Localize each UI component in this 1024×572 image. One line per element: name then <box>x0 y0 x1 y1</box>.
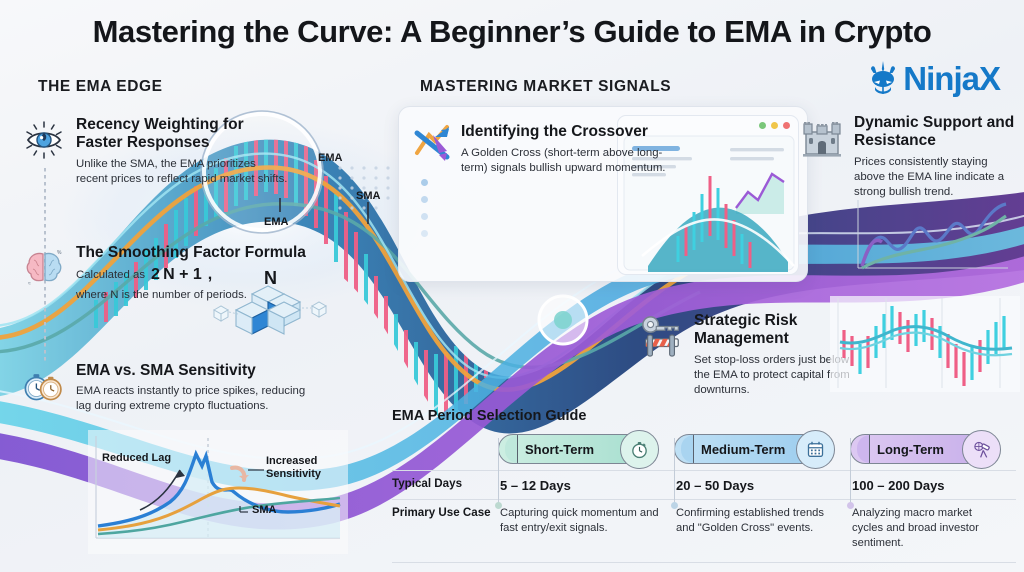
pill-cap <box>505 435 518 463</box>
traffic-light-red <box>783 122 790 129</box>
cell-days-long: 100 – 200 Days <box>850 471 1016 493</box>
section-kicker-middle: MASTERING MARKET SIGNALS <box>420 78 671 96</box>
step-dot <box>421 196 428 203</box>
page-title: Mastering the Curve: A Beginner’s Guide … <box>0 14 1024 50</box>
ema-period-selection-guide: EMA Period Selection Guide Short-Term <box>392 408 1016 566</box>
crossing-arrows-icon <box>413 123 455 165</box>
main-chart-ema-label: EMA <box>264 216 288 228</box>
cell-days-medium: 20 – 50 Days <box>674 471 850 493</box>
pill-label: Medium-Term <box>701 442 785 457</box>
barrier-icon <box>646 335 679 356</box>
cell-days-short: 5 – 12 Days <box>498 471 674 493</box>
eye-icon <box>22 118 66 162</box>
pill-long-term[interactable]: Long-Term <box>850 434 986 464</box>
step-dot <box>421 213 428 220</box>
pill-medium-term[interactable]: Medium-Term <box>674 434 820 464</box>
crossover-heading: Identifying the Crossover <box>461 123 671 141</box>
feature-support-heading: Dynamic Support and Resistance <box>854 114 1020 151</box>
vtick-dot <box>847 502 854 509</box>
guide-col-long[interactable]: Long-Term <box>850 434 1016 464</box>
feature-sensitivity-body: EMA reacts instantly to price spikes, re… <box>76 384 322 414</box>
label-reduced-lag: Reduced Lag <box>102 452 171 465</box>
n-cube-group: N <box>212 270 332 356</box>
panel-chart-ema-label: EMA <box>318 152 342 164</box>
main-chart-sma-label: SMA <box>356 190 380 202</box>
svg-text:%: % <box>57 250 62 256</box>
pill-label: Short-Term <box>525 442 594 457</box>
vtick-long <box>850 438 851 506</box>
lag-sensitivity-chart: Reduced Lag Increased Sensitivity SMA <box>88 430 348 554</box>
vtick-medium <box>674 438 675 506</box>
pill-short-term[interactable]: Short-Term <box>498 434 644 464</box>
stop-loss-chart <box>830 296 1020 392</box>
n-cube-label: N <box>264 268 277 289</box>
crossover-marker <box>539 296 587 344</box>
guide-col-short[interactable]: Short-Term <box>498 434 674 464</box>
section-kicker-left: THE EMA EDGE <box>38 78 163 96</box>
feature-support-body: Prices consistently staying above the EM… <box>854 155 1020 200</box>
step-dot <box>421 230 428 237</box>
cell-use-medium: Confirming established trends and "Golde… <box>674 500 850 550</box>
guide-header-row: Short-Term Medium-Term <box>392 434 1016 464</box>
cell-use-long: Analyzing macro market cycles and broad … <box>850 500 1016 550</box>
crossover-panel: Identifying the Crossover A Golden Cross… <box>398 106 808 282</box>
feature-recency-body: Unlike the SMA, the EMA prioritizes rece… <box>76 157 290 187</box>
crossover-body: A Golden Cross (short-term above long-te… <box>461 146 671 176</box>
traffic-light-yellow <box>771 122 778 129</box>
guide-col-medium[interactable]: Medium-Term <box>674 434 850 464</box>
row-label-primary-use-case: Primary Use Case <box>392 500 498 550</box>
brand-name: NinjaX <box>903 62 1000 95</box>
key-icon <box>640 314 684 358</box>
feature-risk-body: Set stop-loss orders just below the EMA … <box>694 353 850 398</box>
feature-recency-weighting: Recency Weighting for Faster Responses U… <box>22 116 290 187</box>
guide-title: EMA Period Selection Guide <box>392 408 1016 424</box>
crossover-text-block: Identifying the Crossover A Golden Cross… <box>461 123 671 177</box>
feature-strategic-risk-management: Strategic Risk Management Set stop-loss … <box>640 312 850 398</box>
label-mini-sma: SMA <box>252 504 276 516</box>
infographic-canvas: Mastering the Curve: A Beginner’s Guide … <box>0 0 1024 572</box>
feature-risk-heading: Strategic Risk Management <box>694 312 850 349</box>
vtick-short <box>498 438 499 506</box>
brand-logo[interactable]: NinjaX <box>866 60 1000 96</box>
guide-corner-cell <box>392 434 498 464</box>
dot-texture <box>338 166 389 209</box>
feature-sensitivity-heading: EMA vs. SMA Sensitivity <box>76 362 322 380</box>
traffic-lights <box>759 122 790 129</box>
support-trend-chart <box>850 196 1014 280</box>
feature-dynamic-support-resistance: Dynamic Support and Resistance Prices co… <box>800 114 1020 200</box>
brain-icon: % ≈ <box>22 246 66 290</box>
price-line <box>862 204 1006 266</box>
pill-label: Long-Term <box>877 442 944 457</box>
formula-fraction: 2 N + 1 <box>151 267 202 283</box>
row-label-typical-days: Typical Days <box>392 471 498 493</box>
traffic-light-green <box>759 122 766 129</box>
calendar-icon <box>796 430 835 469</box>
ninja-helmet-icon <box>866 60 900 96</box>
feature-recency-heading: Recency Weighting for Faster Responses <box>76 116 290 153</box>
vtick-dot <box>495 502 502 509</box>
formula-denominator: N + 1 <box>163 265 202 283</box>
svg-text:≈: ≈ <box>28 281 31 287</box>
formula-lead: Calculated as <box>76 269 145 281</box>
castle-icon <box>800 116 844 160</box>
stopwatch-icon <box>620 430 659 469</box>
label-increased-sensitivity: Increased Sensitivity <box>266 455 342 481</box>
cell-use-short: Capturing quick momentum and fast entry/… <box>498 500 674 550</box>
stopwatch-icon <box>22 364 66 408</box>
guide-row-typical-days: Typical Days 5 – 12 Days 20 – 50 Days 10… <box>392 471 1016 493</box>
guide-row-use-case: Primary Use Case Capturing quick momentu… <box>392 500 1016 550</box>
formula-numerator: 2 <box>151 266 160 284</box>
guide-divider-bottom <box>392 562 1016 563</box>
telescope-icon <box>962 430 1001 469</box>
step-dot <box>421 179 428 186</box>
pill-cap <box>681 435 694 463</box>
vtick-dot <box>671 502 678 509</box>
feature-ema-vs-sma-sensitivity: EMA vs. SMA Sensitivity EMA reacts insta… <box>22 362 322 415</box>
panel-step-dots <box>421 179 428 247</box>
pill-cap <box>857 435 870 463</box>
feature-smoothing-heading: The Smoothing Factor Formula <box>76 244 322 262</box>
